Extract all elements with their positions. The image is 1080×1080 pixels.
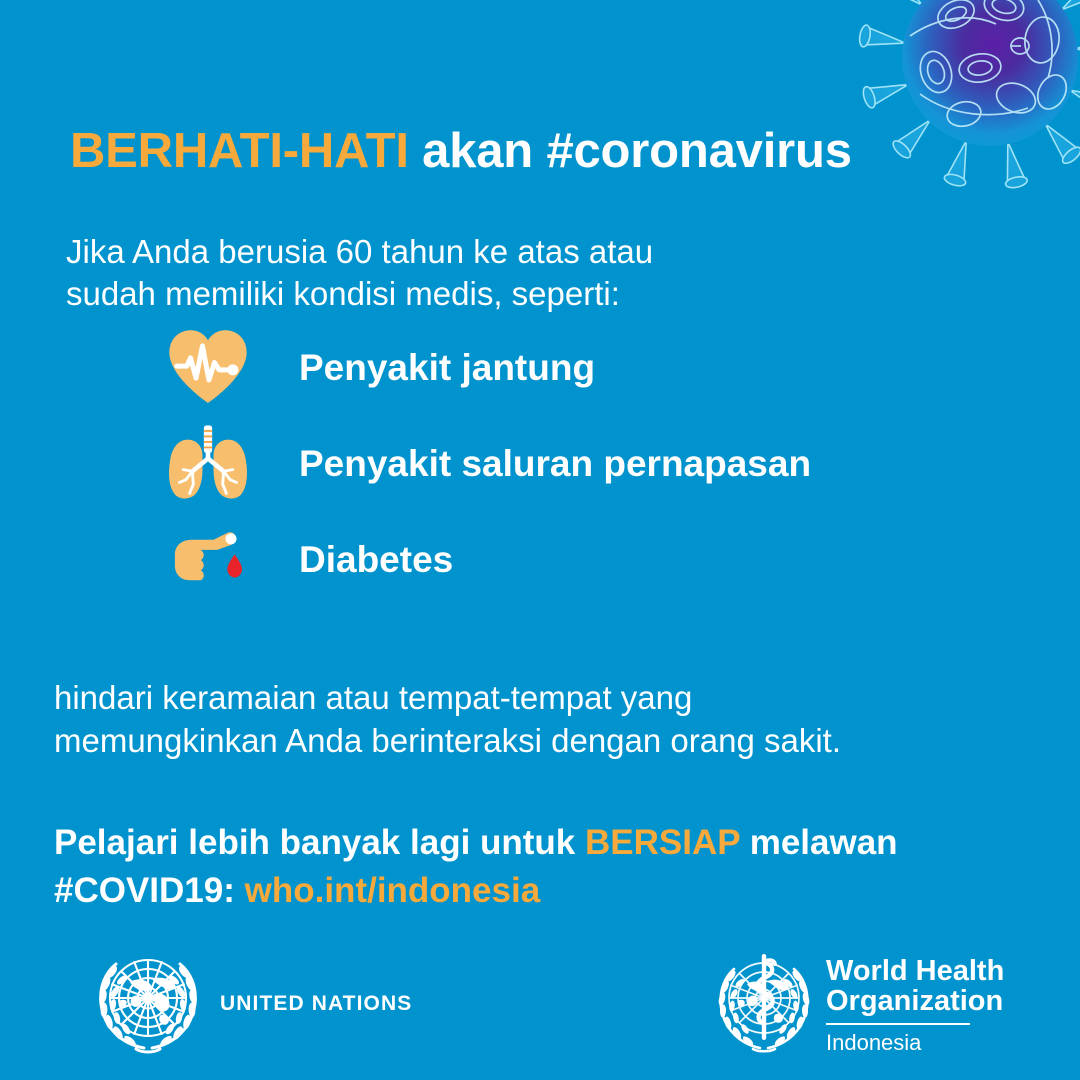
who-indonesia-link[interactable]: who.int/indonesia: [245, 871, 541, 910]
advice-paragraph: hindari keramaian atau tempat-tempat yan…: [54, 677, 841, 763]
cta-hashtag-label: #COVID19:: [54, 871, 245, 910]
cta-line-2: #COVID19: who.int/indonesia: [54, 867, 898, 915]
intro-line-2: sudah memiliki kondisi medis, seperti:: [66, 273, 653, 315]
intro-line-1: Jika Anda berusia 60 tahun ke atas atau: [66, 231, 653, 273]
list-item: Penyakit jantung: [0, 320, 1080, 416]
condition-list: Penyakit jantung: [0, 320, 1080, 608]
headline-accent: BERHATI-HATI: [70, 124, 409, 178]
page-title: BERHATI-HATI akan #coronavirus: [70, 125, 852, 178]
who-country-label: Indonesia: [826, 1030, 1004, 1056]
infographic-poster: BERHATI-HATI akan #coronavirus Jika Anda…: [0, 0, 1080, 1080]
united-nations-wordmark: UNITED NATIONS: [220, 992, 412, 1016]
who-text-block: World Health Organization Indonesia: [826, 956, 1004, 1056]
cta-text-before: Pelajari lebih banyak lagi untuk: [54, 823, 585, 862]
finger-blood-drop-icon: [160, 512, 256, 608]
intro-paragraph: Jika Anda berusia 60 tahun ke atas atau …: [66, 231, 653, 315]
who-name-line-2: Organization: [826, 986, 1004, 1016]
list-item: Diabetes: [0, 512, 1080, 608]
headline-rest: akan #coronavirus: [409, 124, 852, 178]
cta-text-after: melawan: [740, 823, 898, 862]
lungs-icon: [160, 416, 256, 512]
who-emblem-icon: [712, 952, 816, 1056]
condition-label: Diabetes: [299, 539, 453, 581]
who-wordmark: World Health Organization: [826, 956, 1004, 1016]
cta-accent-word: BERSIAP: [585, 823, 740, 862]
united-nations-logo: UNITED NATIONS: [92, 952, 412, 1056]
condition-label: Penyakit saluran pernapasan: [299, 443, 811, 485]
cta-line-1: Pelajari lebih banyak lagi untuk BERSIAP…: [54, 819, 898, 867]
call-to-action: Pelajari lebih banyak lagi untuk BERSIAP…: [54, 819, 898, 916]
who-divider: [826, 1023, 970, 1025]
united-nations-emblem-icon: [92, 952, 204, 1056]
coronavirus-illustration: [840, 0, 1080, 238]
advice-line-2: memungkinkan Anda berinteraksi dengan or…: [54, 720, 841, 763]
advice-line-1: hindari keramaian atau tempat-tempat yan…: [54, 677, 841, 720]
who-logo: World Health Organization Indonesia: [712, 952, 1004, 1056]
list-item: Penyakit saluran pernapasan: [0, 416, 1080, 512]
who-name-line-1: World Health: [826, 956, 1004, 986]
condition-label: Penyakit jantung: [299, 347, 595, 389]
heart-pulse-icon: [160, 320, 256, 416]
